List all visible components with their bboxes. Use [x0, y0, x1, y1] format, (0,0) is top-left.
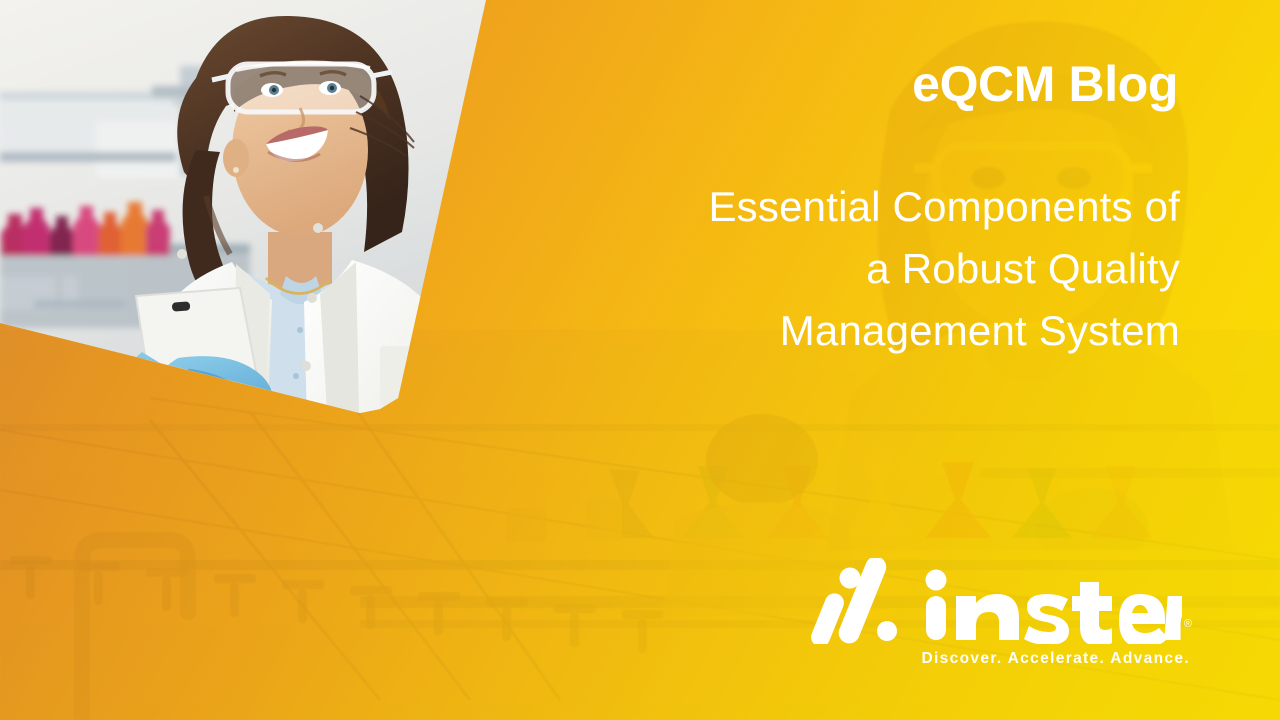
wordmark: ® — [924, 564, 1192, 644]
instem-slash-dots-icon — [810, 558, 914, 644]
page-title: eQCM Blog — [912, 58, 1178, 111]
brand-logo: ® Discover. Accelerate. Advance. — [810, 558, 1192, 668]
headline-line-3: Management System — [520, 300, 1180, 362]
headline-line-1: Essential Components of — [520, 176, 1180, 238]
headline-line-2: a Robust Quality — [520, 238, 1180, 300]
logo-row: ® — [810, 558, 1192, 644]
registered-trademark-symbol: ® — [1184, 619, 1192, 630]
blog-banner: eQCM Blog Essential Components of a Robu… — [0, 0, 1280, 720]
brand-tagline: Discover. Accelerate. Advance. — [921, 650, 1190, 668]
article-headline: Essential Components of a Robust Quality… — [520, 176, 1180, 362]
instem-wordmark-icon — [924, 564, 1182, 644]
